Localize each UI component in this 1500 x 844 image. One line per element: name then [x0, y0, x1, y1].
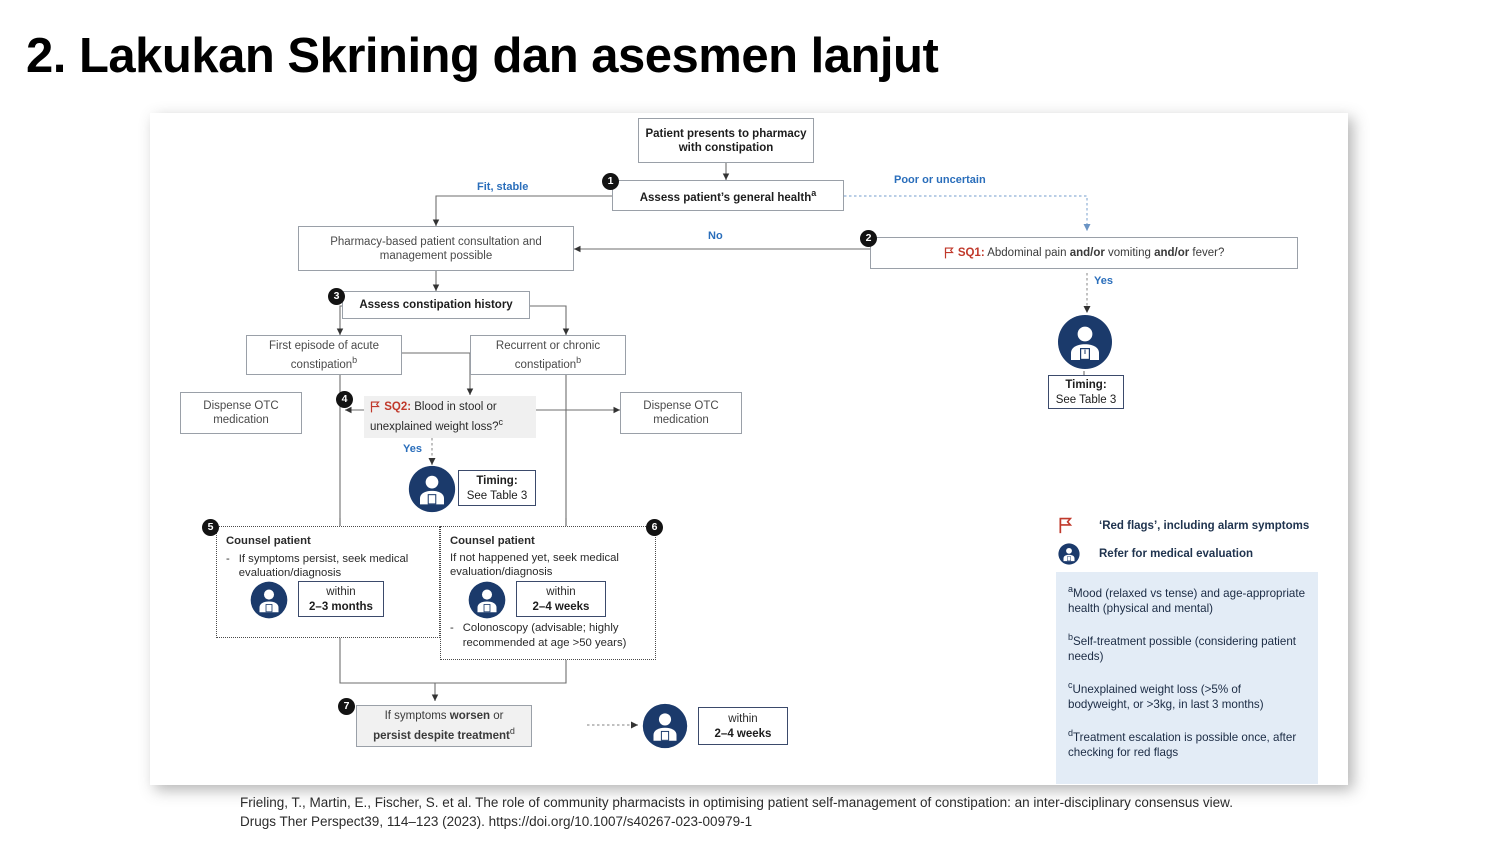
refer-doctor-icon-4 — [468, 581, 506, 624]
counsel-right-line: If not happened yet, seek medical evalua… — [450, 551, 652, 580]
sq2-id: SQ2: — [384, 401, 411, 413]
sup-c: c — [499, 417, 504, 427]
step-badge-6: 6 — [646, 519, 663, 536]
footnote-b-text: Self-treatment possible (considering pat… — [1068, 635, 1296, 664]
sq1-p3: fever? — [1189, 247, 1224, 259]
within-box-3[interactable]: within 2–4 weeks — [698, 707, 788, 745]
counsel-right-bullet-row: - Colonoscopy (advisable; highly recomme… — [450, 621, 654, 650]
timing-2-line2: See Table 3 — [467, 489, 528, 503]
timing-2-line1: Timing: — [476, 474, 517, 488]
red-flag-icon — [1058, 517, 1074, 534]
node-dispense-right[interactable]: Dispense OTC medication — [620, 392, 742, 434]
legend-refer-label: Refer for medical evaluation — [1099, 548, 1253, 560]
t: or — [490, 710, 503, 722]
counsel-left-heading: Counsel patient — [226, 534, 434, 549]
t: First episode of acute constipation — [269, 340, 379, 371]
legend-refer: Refer for medical evaluation — [1058, 543, 1253, 565]
step-badge-1: 1 — [602, 173, 619, 190]
sq1-id: SQ1: — [958, 247, 985, 259]
sq1-p2: vomiting — [1105, 247, 1154, 259]
refer-doctor-icon — [1058, 543, 1080, 565]
sup-d: d — [510, 726, 515, 736]
timing-1-line2: See Table 3 — [1056, 393, 1117, 407]
refer-doctor-icon-3 — [250, 581, 288, 624]
step-badge-4: 4 — [336, 391, 353, 408]
red-flag-icon — [944, 247, 955, 259]
node-sq2[interactable]: SQ2: Blood in stool or unexplained weigh… — [364, 396, 536, 438]
edge-label-no: No — [708, 230, 723, 242]
counsel-right-dash: - — [450, 621, 454, 650]
sq2-l2: unexplained weight loss? — [370, 420, 499, 432]
page-title: 2. Lakukan Skrining dan asesmen lanjut — [26, 28, 938, 84]
counsel-right-heading: Counsel patient — [450, 534, 652, 549]
node-worsen[interactable]: If symptoms worsen or persist despite tr… — [356, 705, 532, 747]
sq2-l1: Blood in stool or — [411, 401, 497, 413]
t: persist despite treatment — [373, 730, 510, 742]
sq1-b1: and/or — [1070, 247, 1105, 259]
node-dispense-right-label: Dispense OTC medication — [621, 399, 741, 427]
red-flag-icon — [370, 401, 381, 413]
node-first-episode-label: First episode of acute constipationb — [247, 339, 401, 372]
footnote-d-text: Treatment escalation is possible once, a… — [1068, 730, 1296, 759]
node-sq1[interactable]: SQ1: Abdominal pain and/or vomiting and/… — [870, 237, 1298, 269]
within-3-line1: within — [728, 712, 757, 726]
t: Assess patient’s general health — [640, 192, 812, 204]
node-pharmacy-based-label: Pharmacy-based patient consultation and … — [299, 235, 573, 263]
t: worsen — [450, 710, 490, 722]
node-assess-history-label: Assess constipation history — [359, 298, 512, 312]
figure-card: Patient presents to pharmacy with consti… — [150, 113, 1348, 785]
flowchart: Patient presents to pharmacy with consti… — [150, 113, 1348, 785]
node-dispense-left-label: Dispense OTC medication — [181, 399, 301, 427]
citation: Frieling, T., Martin, E., Fischer, S. et… — [240, 793, 1250, 831]
node-assess-history[interactable]: Assess constipation history — [342, 291, 530, 319]
footnote-a: aMood (relaxed vs tense) and age-appropr… — [1068, 582, 1306, 617]
step-badge-2: 2 — [860, 230, 877, 247]
counsel-right-text: Counsel patient If not happened yet, see… — [450, 534, 652, 580]
refer-doctor-icon-2 — [408, 465, 456, 518]
within-box-1[interactable]: within 2–3 months — [298, 581, 384, 617]
sq1-b2: and/or — [1154, 247, 1189, 259]
slide-root: 2. Lakukan Skrining dan asesmen lanjut — [0, 0, 1500, 844]
worsen-line1: If symptoms worsen or — [385, 709, 504, 723]
footnotes-panel: aMood (relaxed vs tense) and age-appropr… — [1056, 572, 1318, 784]
counsel-left-dash: - — [226, 552, 230, 581]
node-assess-health[interactable]: Assess patient’s general healtha — [612, 180, 844, 211]
legend-red-flags-label: ‘Red flags’, including alarm symptoms — [1099, 520, 1309, 532]
edge-label-fit-stable: Fit, stable — [477, 181, 528, 193]
refer-doctor-icon-1 — [1057, 314, 1113, 375]
node-start[interactable]: Patient presents to pharmacy with consti… — [638, 118, 814, 163]
within-1-line2: 2–3 months — [309, 600, 373, 614]
node-dispense-left[interactable]: Dispense OTC medication — [180, 392, 302, 434]
footnote-d: dTreatment escalation is possible once, … — [1068, 726, 1306, 761]
refer-doctor-icon-5 — [642, 703, 688, 754]
within-1-line1: within — [326, 585, 355, 599]
node-recurrent[interactable]: Recurrent or chronic constipationb — [470, 335, 626, 375]
timing-box-1[interactable]: Timing: See Table 3 — [1048, 375, 1124, 409]
edge-label-yes-sq2: Yes — [403, 443, 422, 455]
counsel-right-bullet: Colonoscopy (advisable; highly recommend… — [463, 621, 654, 650]
timing-box-2[interactable]: Timing: See Table 3 — [458, 470, 536, 506]
timing-1-line1: Timing: — [1065, 378, 1106, 392]
sup-a: a — [811, 188, 816, 198]
within-box-2[interactable]: within 2–4 weeks — [516, 581, 606, 617]
sup-b1: b — [352, 355, 357, 365]
edge-label-yes-sq1: Yes — [1094, 275, 1113, 287]
node-assess-health-label: Assess patient’s general healtha — [640, 186, 817, 205]
node-start-label: Patient presents to pharmacy with consti… — [639, 127, 813, 155]
step-badge-7: 7 — [338, 698, 355, 715]
sup-b2: b — [576, 355, 581, 365]
node-sq2-label: SQ2: Blood in stool or unexplained weigh… — [370, 400, 503, 435]
counsel-left-text: Counsel patient - If symptoms persist, s… — [226, 534, 434, 581]
within-3-line2: 2–4 weeks — [715, 727, 772, 741]
step-badge-5: 5 — [202, 519, 219, 536]
node-sq1-label: SQ1: Abdominal pain and/or vomiting and/… — [944, 246, 1225, 260]
node-pharmacy-based[interactable]: Pharmacy-based patient consultation and … — [298, 226, 574, 271]
node-recurrent-label: Recurrent or chronic constipationb — [471, 339, 625, 372]
sq1-p1: Abdominal pain — [985, 247, 1070, 259]
edge-label-poor-uncertain: Poor or uncertain — [894, 174, 986, 186]
within-2-line1: within — [546, 585, 575, 599]
footnote-c: cUnexplained weight loss (>5% of bodywei… — [1068, 678, 1306, 713]
footnote-c-text: Unexplained weight loss (>5% of bodyweig… — [1068, 683, 1264, 712]
worsen-line2: persist despite treatmentd — [373, 724, 515, 743]
legend-red-flags: ‘Red flags’, including alarm symptoms — [1058, 517, 1309, 534]
t: If symptoms — [385, 710, 450, 722]
counsel-left-bullet: If symptoms persist, seek medical evalua… — [239, 552, 434, 581]
node-first-episode[interactable]: First episode of acute constipationb — [246, 335, 402, 375]
footnote-b: bSelf-treatment possible (considering pa… — [1068, 630, 1306, 665]
within-2-line2: 2–4 weeks — [533, 600, 590, 614]
t: Recurrent or chronic constipation — [496, 340, 600, 371]
step-badge-3: 3 — [328, 288, 345, 305]
footnote-a-text: Mood (relaxed vs tense) and age-appropri… — [1068, 587, 1305, 616]
